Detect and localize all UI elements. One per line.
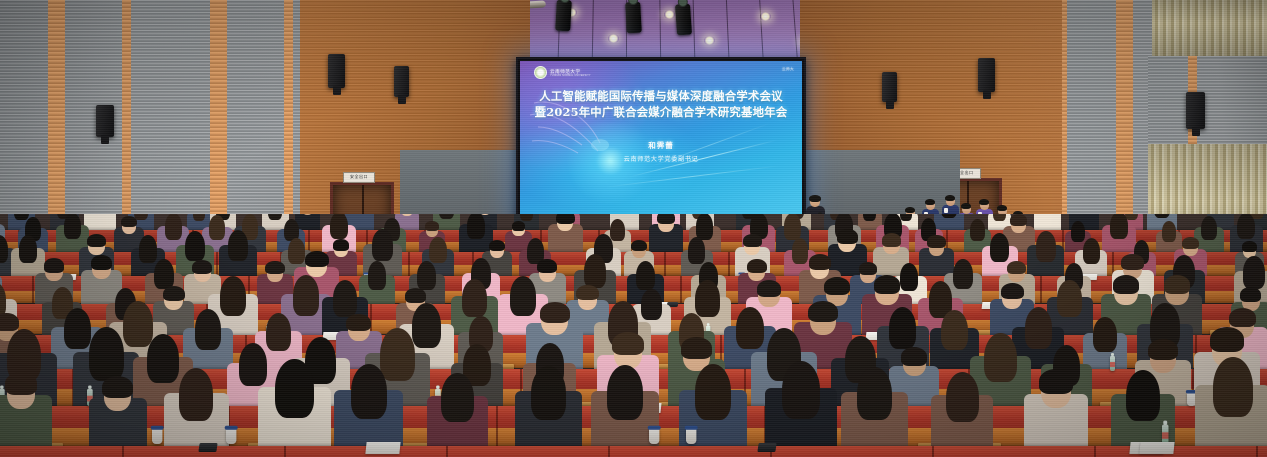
attendee-hair xyxy=(990,233,1009,262)
attendee-hair xyxy=(631,240,647,251)
attendee-hair xyxy=(612,332,645,355)
attendee-hair xyxy=(265,261,284,275)
notebook xyxy=(1139,442,1174,454)
attendee-hair xyxy=(1113,275,1140,294)
attendee-hair xyxy=(1213,357,1253,418)
attendee-hair xyxy=(1007,261,1026,275)
seat-divider xyxy=(284,446,286,457)
attendee-hair xyxy=(537,259,557,273)
exit-sign-left: 安全出口 xyxy=(343,172,375,183)
attendee-hair xyxy=(584,254,606,288)
attendee-hair xyxy=(1121,254,1143,270)
wall-speaker-right xyxy=(1186,92,1205,129)
attendee-hair xyxy=(489,240,505,251)
attendee-hair xyxy=(743,234,762,247)
attendee-hair xyxy=(179,368,214,421)
attendee-hair xyxy=(1110,214,1128,239)
volunteer-hair xyxy=(925,199,935,205)
attendee-hair xyxy=(695,280,720,317)
attendee-hair xyxy=(607,365,643,420)
attendee-hair xyxy=(757,280,782,297)
attendee-hair xyxy=(688,237,705,263)
attendee-hair xyxy=(64,214,81,239)
volunteer-hair xyxy=(945,195,955,201)
attendee-hair xyxy=(293,275,320,315)
seat-divider xyxy=(680,276,682,303)
attendee-hair xyxy=(782,361,820,419)
attendee-hair xyxy=(5,372,38,395)
attendee-hair xyxy=(889,307,917,349)
attendee-hair xyxy=(681,337,712,359)
downlight xyxy=(760,12,771,21)
attendee-hair xyxy=(351,364,388,420)
attendee-hair xyxy=(209,215,225,240)
attendee-hair xyxy=(882,233,901,246)
attendee-hair xyxy=(531,366,566,420)
seat-bench xyxy=(0,446,1267,457)
attendee-hair xyxy=(512,221,526,231)
attendee-hair xyxy=(412,303,441,348)
attendee-hair xyxy=(520,214,533,221)
attendee-hair xyxy=(1148,339,1178,360)
attendee-hair xyxy=(1243,256,1264,288)
paper-cup xyxy=(686,429,696,445)
screen-corner-label: 云师大 xyxy=(782,67,794,72)
seat-divider xyxy=(216,252,218,276)
downlight xyxy=(664,10,675,19)
cup-lid xyxy=(648,426,661,430)
wall-speaker-stage-right xyxy=(882,72,897,102)
conference-photo: 安全出口 安全出口 xyxy=(0,0,1267,457)
screen-title-line-1: 人工智能赋能国际传播与媒体深度融合学术会议 xyxy=(520,89,802,104)
attendee-hair xyxy=(900,263,918,291)
attendee-hair xyxy=(333,280,357,317)
attendee-hair xyxy=(405,288,426,303)
attendee-hair xyxy=(927,235,945,248)
attendee-hair xyxy=(1229,308,1256,327)
seat-divider xyxy=(932,446,934,457)
attendee-hair xyxy=(576,285,598,301)
seat-divider xyxy=(664,252,666,276)
attendee-hair xyxy=(239,343,267,385)
seat-divider xyxy=(728,252,730,276)
attendee-hair xyxy=(1093,317,1116,353)
university-emblem-icon xyxy=(534,66,547,79)
screen-title-block: 人工智能赋能国际传播与媒体深度融合学术会议 暨2025年中广联合会媒介融合学术研… xyxy=(520,89,802,120)
attendee-hair xyxy=(220,276,246,316)
attendee-hair xyxy=(736,307,764,349)
water-bottle xyxy=(1110,356,1115,371)
attendee-hair xyxy=(87,234,106,247)
seat-divider xyxy=(122,446,124,457)
attendee-hair xyxy=(824,277,850,295)
attendee-hair xyxy=(941,310,967,350)
attendee-hair xyxy=(857,367,892,421)
notebook xyxy=(365,442,400,454)
attendee-hair xyxy=(953,259,973,290)
paper-cup xyxy=(649,429,659,445)
attendee-hair xyxy=(1001,283,1024,299)
attendee-hair xyxy=(163,286,185,301)
spotlight xyxy=(675,4,692,36)
screen-university-logo: 云南师范大学 YUNNAN NORMAL UNIVERSITY xyxy=(534,66,591,79)
downlight xyxy=(608,34,619,43)
attendee-hair xyxy=(1162,221,1176,242)
attendee-hair xyxy=(429,237,446,263)
attendee-hair xyxy=(441,373,474,423)
attendee-hair xyxy=(747,259,767,273)
seat-divider xyxy=(608,446,610,457)
attendee-hair xyxy=(467,214,485,239)
cup-lid xyxy=(684,426,697,430)
wall-right-mid xyxy=(1148,56,1267,144)
wall-speaker-stage-left xyxy=(328,54,345,88)
attendee-hair xyxy=(372,229,393,260)
attendee-hair xyxy=(1126,370,1160,422)
seat-divider xyxy=(446,446,448,457)
attendee-hair xyxy=(417,261,436,290)
attendee-hair xyxy=(859,262,878,275)
seat-divider xyxy=(1256,446,1258,457)
attendee-hair xyxy=(556,214,574,224)
seat-divider xyxy=(1040,276,1042,303)
bottle-label xyxy=(1110,362,1115,367)
attendee-hair xyxy=(154,259,174,290)
attendee-hair xyxy=(333,239,350,251)
attendee-hair xyxy=(425,221,439,231)
attendee-hair xyxy=(91,255,113,270)
attendee-hair xyxy=(193,214,206,221)
volunteer-hair xyxy=(961,203,971,209)
attendee-hair xyxy=(165,214,182,240)
curtain-upper-right xyxy=(1152,0,1267,58)
attendee-hair xyxy=(1025,307,1053,349)
attendee-hair xyxy=(1210,327,1245,352)
seat-divider xyxy=(408,252,410,276)
attendee-hair xyxy=(540,302,570,323)
attendee-hair xyxy=(984,333,1016,382)
attendee-hair xyxy=(275,359,314,418)
attendee-hair xyxy=(901,347,927,366)
wall-speaker-left xyxy=(96,105,114,137)
attendee-hair xyxy=(288,238,305,264)
spotlight xyxy=(625,2,642,34)
attendee-hair xyxy=(837,229,858,244)
attendee-hair xyxy=(228,230,248,261)
attendee-hair xyxy=(1242,241,1258,252)
attendee-hair xyxy=(1010,214,1027,226)
attendee-hair xyxy=(1240,287,1261,302)
spotlight xyxy=(555,0,572,31)
presenter-hair xyxy=(809,195,821,202)
attendee-hair xyxy=(510,276,536,316)
attendee-hair xyxy=(192,260,212,274)
attendee-hair xyxy=(462,279,487,317)
cup-lid xyxy=(225,426,238,430)
downlight xyxy=(704,36,715,45)
bottle-label xyxy=(1162,432,1169,439)
attendee-hair xyxy=(808,301,838,322)
attendee-hair xyxy=(1036,231,1056,261)
attendee-hair xyxy=(266,313,291,351)
seat-divider xyxy=(32,276,34,303)
attendee-hair xyxy=(993,214,1006,221)
cup-lid xyxy=(150,426,163,430)
attendee-hair xyxy=(195,309,222,350)
attendee-hair xyxy=(121,216,137,227)
audience-area xyxy=(0,214,1267,457)
attendee-hair xyxy=(610,219,625,241)
attendee-hair xyxy=(695,364,731,419)
screen-speaker-role: 云南师范大学党委副书记 xyxy=(520,154,802,163)
attendee-hair xyxy=(330,214,348,239)
attendee-hair xyxy=(139,235,157,263)
attendee-hair xyxy=(19,235,37,263)
attendee-hair xyxy=(636,261,655,290)
attendee-hair xyxy=(970,219,985,241)
attendee-hair xyxy=(863,214,876,221)
screen-surface: 云南师范大学 YUNNAN NORMAL UNIVERSITY 云师大 人工智能… xyxy=(520,61,802,217)
volunteer-hair xyxy=(979,199,989,205)
wall-speaker-stage-right-2 xyxy=(978,58,995,92)
volunteer-hair xyxy=(997,205,1007,211)
volunteer-hair xyxy=(905,207,915,213)
attendee-hair xyxy=(1237,214,1254,239)
paper-cup xyxy=(226,429,236,445)
smartphone xyxy=(198,443,217,452)
attendee-hair xyxy=(900,214,912,221)
attendee-hair xyxy=(147,334,179,382)
attendee-hair xyxy=(1039,369,1073,393)
attendee-hair xyxy=(368,261,387,290)
attendee-hair xyxy=(346,314,371,331)
attendee-hair xyxy=(44,258,64,272)
attendee-hair xyxy=(1201,216,1217,241)
paper-cup xyxy=(152,429,162,445)
wall-speaker-stage-left-2 xyxy=(394,66,409,97)
attendee-hair xyxy=(641,289,661,320)
screen-speaker-name: 和霁蕾 xyxy=(520,140,802,151)
attendee-hair xyxy=(123,301,153,347)
attendee-hair xyxy=(185,231,205,262)
attendee-hair xyxy=(89,327,124,380)
seat-divider xyxy=(1094,446,1096,457)
seat-divider xyxy=(308,230,310,252)
attendee-hair xyxy=(305,251,329,268)
attendee-hair xyxy=(809,254,831,270)
attendee-hair xyxy=(874,275,901,294)
attendee-hair xyxy=(64,308,91,349)
attendee-hair xyxy=(1164,275,1191,294)
attendee-hair xyxy=(784,214,801,240)
attendee-hair xyxy=(1071,221,1085,242)
volunteer-badge xyxy=(944,208,948,213)
attendee-hair xyxy=(1083,238,1100,264)
attendee-hair xyxy=(0,313,19,331)
logo-subtext: YUNNAN NORMAL UNIVERSITY xyxy=(550,74,591,77)
attendee-hair xyxy=(1057,280,1081,317)
screen-title-line-2: 暨2025年中广联合会媒介融合学术研究基地年会 xyxy=(520,104,802,120)
attendee-hair xyxy=(696,214,713,240)
water-bottle xyxy=(1162,424,1169,444)
smartphone xyxy=(757,443,776,452)
attendee-hair xyxy=(102,376,133,398)
led-presentation-screen: 云南师范大学 YUNNAN NORMAL UNIVERSITY 云师大 人工智能… xyxy=(516,57,806,221)
attendee-hair xyxy=(792,238,809,263)
attendee-hair xyxy=(380,328,415,381)
attendee-hair xyxy=(1182,237,1199,249)
attendee-hair xyxy=(14,214,28,220)
seat-divider xyxy=(496,406,498,447)
attendee-hair xyxy=(657,214,675,224)
attendee-hair xyxy=(946,372,979,422)
